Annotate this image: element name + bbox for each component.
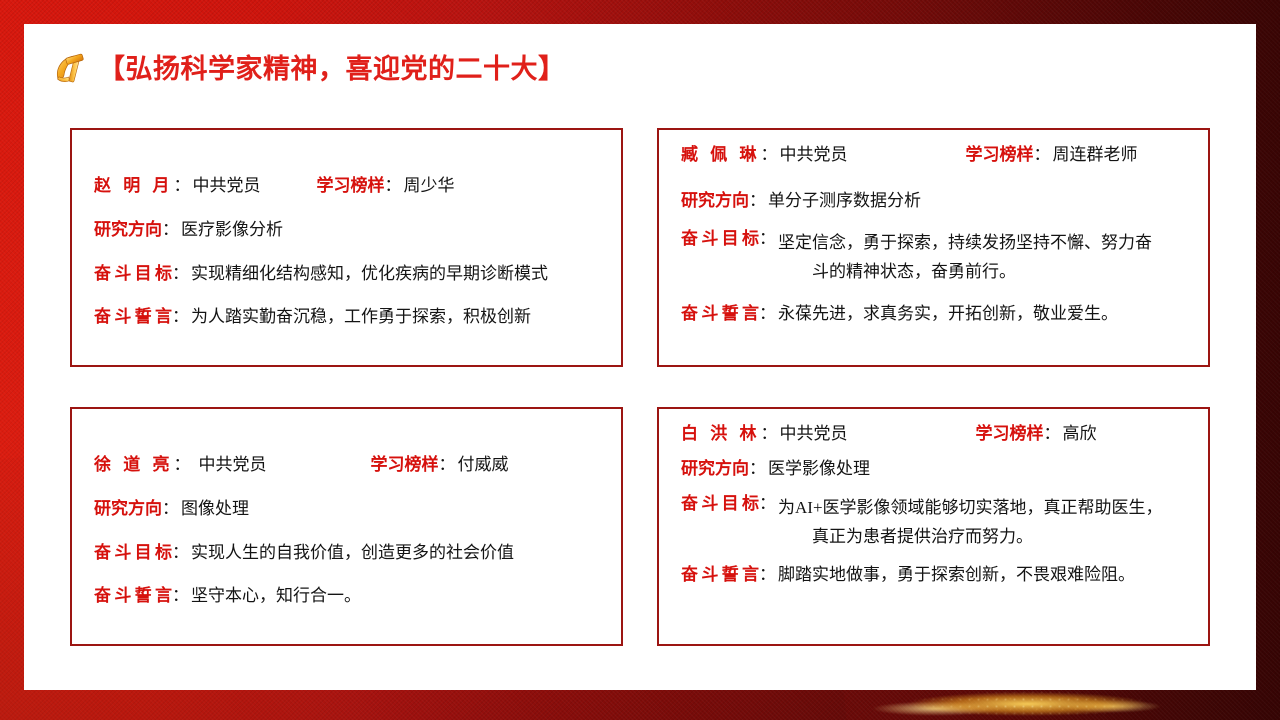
goal-value: 为AI+医学影像领域能够切实落地，真正帮助医生， 真正为患者提供治疗而努力。 bbox=[778, 493, 1192, 551]
colon: ： bbox=[172, 542, 191, 564]
oath-line: 坚守本心，知行合一。 bbox=[191, 585, 605, 607]
goal-line: 坚定信念，勇于探索，持续发扬坚持不懈、努力奋 bbox=[778, 228, 1192, 258]
page-title: 【弘扬科学家精神，喜迎党的二十大】 bbox=[98, 56, 566, 83]
oath-line: 永葆先进，求真务实，开拓创新，敬业爱生。 bbox=[778, 303, 1192, 325]
goal-row: 奋斗目标 ： 坚定信念，勇于探索，持续发扬坚持不懈、努力奋 斗的精神状态，奋勇前… bbox=[681, 228, 1192, 288]
member-name: 臧 佩 琳 bbox=[681, 144, 761, 166]
colon: ： bbox=[759, 228, 778, 250]
goal-value: 实现精细化结构感知，优化疾病的早期诊断模式 bbox=[191, 263, 605, 285]
research-direction-value: 医疗影像分析 bbox=[181, 219, 605, 241]
role-model-label: 学习榜样 bbox=[976, 423, 1044, 445]
role-model-label: 学习榜样 bbox=[371, 454, 439, 476]
oath-label: 奋斗誓言 bbox=[681, 564, 759, 586]
colon: ： bbox=[162, 219, 181, 241]
colon: ： bbox=[759, 303, 778, 325]
goal-line: 真正为患者提供治疗而努力。 bbox=[778, 522, 1192, 551]
research-direction-value: 图像处理 bbox=[181, 498, 605, 520]
colon: ： bbox=[172, 585, 191, 607]
colon: ： bbox=[761, 423, 780, 445]
member-party-status: 中共党员 bbox=[780, 144, 966, 166]
role-model-label: 学习榜样 bbox=[966, 144, 1034, 166]
colon: ： bbox=[162, 498, 181, 520]
goal-label: 奋斗目标 bbox=[94, 542, 172, 564]
goal-label: 奋斗目标 bbox=[681, 493, 759, 515]
colon: ： bbox=[172, 306, 191, 328]
member-card[interactable]: 白 洪 林 ： 中共党员 学习榜样 ： 高欣 研究方向 ： 医学影像处理 奋斗目… bbox=[657, 407, 1210, 646]
member-name: 白 洪 林 bbox=[681, 423, 761, 445]
role-model-group: 学习榜样 ： 周连群老师 bbox=[966, 144, 1138, 166]
oath-label: 奋斗誓言 bbox=[681, 303, 759, 325]
goal-value: 坚定信念，勇于探索，持续发扬坚持不懈、努力奋 斗的精神状态，奋勇前行。 bbox=[778, 228, 1192, 288]
oath-value: 坚守本心，知行合一。 bbox=[191, 585, 605, 607]
colon: ： bbox=[439, 454, 458, 476]
member-card[interactable]: 赵 明 月 ： 中共党员 学习榜样 ： 周少华 研究方向 ： 医疗影像分析 奋斗… bbox=[70, 128, 623, 367]
colon: ： bbox=[385, 175, 404, 197]
colon: ： bbox=[749, 458, 768, 480]
goal-value: 实现人生的自我价值，创造更多的社会价值 bbox=[191, 542, 605, 564]
role-model-group: 学习榜样 ： 周少华 bbox=[317, 175, 455, 197]
colon: ： bbox=[749, 190, 768, 212]
role-model-value: 周连群老师 bbox=[1053, 144, 1138, 166]
member-party-status: 中共党员 bbox=[193, 454, 371, 476]
role-model-group: 学习榜样 ： 付威威 bbox=[371, 454, 509, 476]
research-direction-row: 研究方向 ： 单分子测序数据分析 bbox=[681, 190, 1192, 212]
colon: ： bbox=[759, 564, 778, 586]
goal-label: 奋斗目标 bbox=[94, 263, 172, 285]
colon: ： bbox=[761, 144, 780, 166]
goal-row: 奋斗目标 ： 为AI+医学影像领域能够切实落地，真正帮助医生， 真正为患者提供治… bbox=[681, 493, 1192, 551]
card-header-row: 白 洪 林 ： 中共党员 学习榜样 ： 高欣 bbox=[681, 423, 1192, 445]
colon: ： bbox=[759, 493, 778, 515]
member-name: 赵 明 月 bbox=[94, 175, 174, 197]
role-model-value: 高欣 bbox=[1063, 423, 1097, 445]
colon: ： bbox=[174, 175, 193, 197]
oath-label: 奋斗誓言 bbox=[94, 306, 172, 328]
party-emblem-icon bbox=[52, 49, 94, 89]
member-card[interactable]: 徐 道 亮 ： 中共党员 学习榜样 ： 付威威 研究方向 ： 图像处理 奋斗目标 bbox=[70, 407, 623, 646]
oath-row: 奋斗誓言 ： 坚守本心，知行合一。 bbox=[94, 585, 605, 607]
oath-row: 奋斗誓言 ： 永葆先进，求真务实，开拓创新，敬业爱生。 bbox=[681, 303, 1192, 325]
oath-row: 奋斗誓言 ： 脚踏实地做事，勇于探索创新，不畏艰难险阻。 bbox=[681, 564, 1192, 586]
colon: ： bbox=[1034, 144, 1053, 166]
oath-row: 奋斗誓言 ： 为人踏实勤奋沉稳，工作勇于探索，积极创新 bbox=[94, 306, 605, 328]
card-header-row: 赵 明 月 ： 中共党员 学习榜样 ： 周少华 bbox=[94, 175, 605, 197]
role-model-group: 学习榜样 ： 高欣 bbox=[976, 423, 1097, 445]
research-direction-label: 研究方向 bbox=[681, 190, 749, 212]
research-direction-row: 研究方向 ： 医学影像处理 bbox=[681, 458, 1192, 480]
colon: ： bbox=[172, 263, 191, 285]
colon: ： bbox=[1044, 423, 1063, 445]
goal-line: 实现人生的自我价值，创造更多的社会价值 bbox=[191, 542, 605, 564]
colon: ： bbox=[174, 454, 193, 476]
role-model-label: 学习榜样 bbox=[317, 175, 385, 197]
member-party-status: 中共党员 bbox=[780, 423, 976, 445]
slide-root: 【弘扬科学家精神，喜迎党的二十大】 赵 明 月 ： 中共党员 学习榜样 ： 周少… bbox=[0, 0, 1280, 720]
goal-line: 斗的精神状态，奋勇前行。 bbox=[778, 257, 1192, 287]
research-direction-value: 医学影像处理 bbox=[768, 458, 1192, 480]
member-card-grid: 赵 明 月 ： 中共党员 学习榜样 ： 周少华 研究方向 ： 医疗影像分析 奋斗… bbox=[70, 128, 1210, 646]
oath-line: 为人踏实勤奋沉稳，工作勇于探索，积极创新 bbox=[191, 306, 605, 328]
goal-line: 为AI+医学影像领域能够切实落地，真正帮助医生， bbox=[778, 493, 1192, 522]
research-direction-row: 研究方向 ： 医疗影像分析 bbox=[94, 219, 605, 241]
card-header-row: 徐 道 亮 ： 中共党员 学习榜样 ： 付威威 bbox=[94, 454, 605, 476]
slide-header: 【弘扬科学家精神，喜迎党的二十大】 bbox=[52, 46, 566, 92]
role-model-value: 周少华 bbox=[404, 175, 455, 197]
goal-row: 奋斗目标 ： 实现人生的自我价值，创造更多的社会价值 bbox=[94, 542, 605, 564]
oath-line: 脚踏实地做事，勇于探索创新，不畏艰难险阻。 bbox=[778, 564, 1192, 586]
role-model-value: 付威威 bbox=[458, 454, 509, 476]
research-direction-row: 研究方向 ： 图像处理 bbox=[94, 498, 605, 520]
card-header-row: 臧 佩 琳 ： 中共党员 学习榜样 ： 周连群老师 bbox=[681, 144, 1192, 166]
research-direction-label: 研究方向 bbox=[94, 498, 162, 520]
oath-value: 永葆先进，求真务实，开拓创新，敬业爱生。 bbox=[778, 303, 1192, 325]
research-direction-value: 单分子测序数据分析 bbox=[768, 190, 1192, 212]
research-direction-label: 研究方向 bbox=[94, 219, 162, 241]
member-name: 徐 道 亮 bbox=[94, 454, 174, 476]
oath-value: 为人踏实勤奋沉稳，工作勇于探索，积极创新 bbox=[191, 306, 605, 328]
goal-row: 奋斗目标 ： 实现精细化结构感知，优化疾病的早期诊断模式 bbox=[94, 263, 605, 285]
goal-line: 实现精细化结构感知，优化疾病的早期诊断模式 bbox=[191, 263, 605, 285]
member-card[interactable]: 臧 佩 琳 ： 中共党员 学习榜样 ： 周连群老师 研究方向 ： 单分子测序数据… bbox=[657, 128, 1210, 367]
oath-label: 奋斗誓言 bbox=[94, 585, 172, 607]
content-panel: 【弘扬科学家精神，喜迎党的二十大】 赵 明 月 ： 中共党员 学习榜样 ： 周少… bbox=[24, 24, 1256, 690]
member-party-status: 中共党员 bbox=[193, 175, 317, 197]
oath-value: 脚踏实地做事，勇于探索创新，不畏艰难险阻。 bbox=[778, 564, 1192, 586]
research-direction-label: 研究方向 bbox=[681, 458, 749, 480]
goal-label: 奋斗目标 bbox=[681, 228, 759, 250]
